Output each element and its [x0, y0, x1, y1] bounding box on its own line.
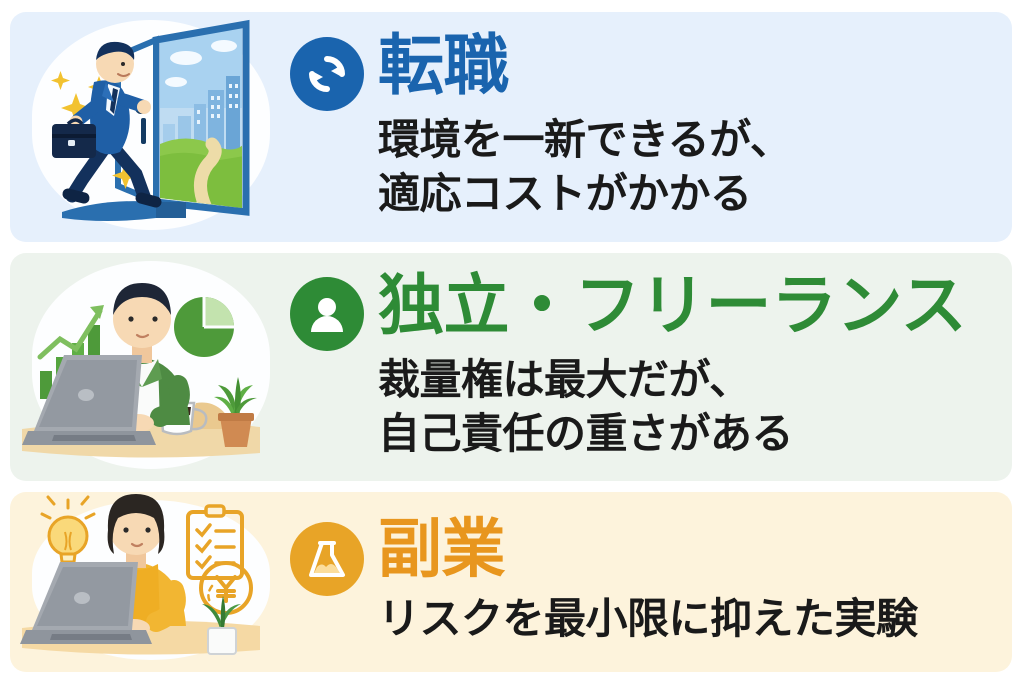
panel-heading: 独立・フリーランス	[378, 273, 966, 338]
heading-row: 副業	[290, 518, 1012, 596]
heading-row: 独立・フリーランス	[290, 273, 1012, 351]
panel-heading: 副業	[378, 518, 505, 581]
panel-description: 裁量権は最大だが、 自己責任の重さがある	[378, 353, 1012, 461]
description-line: 適応コストがかかる	[378, 167, 1012, 221]
panel-independence-freelance: 独立・フリーランス 裁量権は最大だが、 自己責任の重さがある	[10, 253, 1012, 481]
illustration-artwork	[10, 492, 286, 672]
text-content-side-business: 副業 リスクを最小限に抑えた実験	[286, 492, 1012, 672]
panel-description: 環境を一新できるが、 適応コストがかかる	[378, 113, 1012, 221]
illustration-woman-working-on-laptop-side-job	[10, 492, 286, 672]
description-line: 自己責任の重さがある	[378, 407, 1012, 461]
description-line: 環境を一新できるが、	[378, 113, 1012, 167]
illustration-artwork	[10, 253, 286, 481]
illustration-businessman-running-through-open-door	[10, 12, 286, 242]
person-icon	[290, 277, 364, 351]
infographic-root: 転職 環境を一新できるが、 適応コストがかかる	[0, 0, 1024, 683]
panel-career-change: 転職 環境を一新できるが、 適応コストがかかる	[10, 12, 1012, 242]
description-line: リスクを最小限に抑えた実験	[378, 592, 1012, 646]
text-content-independence-freelance: 独立・フリーランス 裁量権は最大だが、 自己責任の重さがある	[286, 253, 1012, 481]
flask-icon	[290, 522, 364, 596]
sync-arrows-icon	[290, 37, 364, 111]
text-content-career-change: 転職 環境を一新できるが、 適応コストがかかる	[286, 12, 1012, 242]
description-line: 裁量権は最大だが、	[378, 353, 1012, 407]
heading-row: 転職	[290, 33, 1012, 111]
panel-heading: 転職	[378, 33, 509, 98]
panel-side-business: 副業 リスクを最小限に抑えた実験	[10, 492, 1012, 672]
illustration-freelancer-at-laptop	[10, 253, 286, 481]
panel-description: リスクを最小限に抑えた実験	[378, 592, 1012, 646]
illustration-artwork	[10, 12, 286, 242]
